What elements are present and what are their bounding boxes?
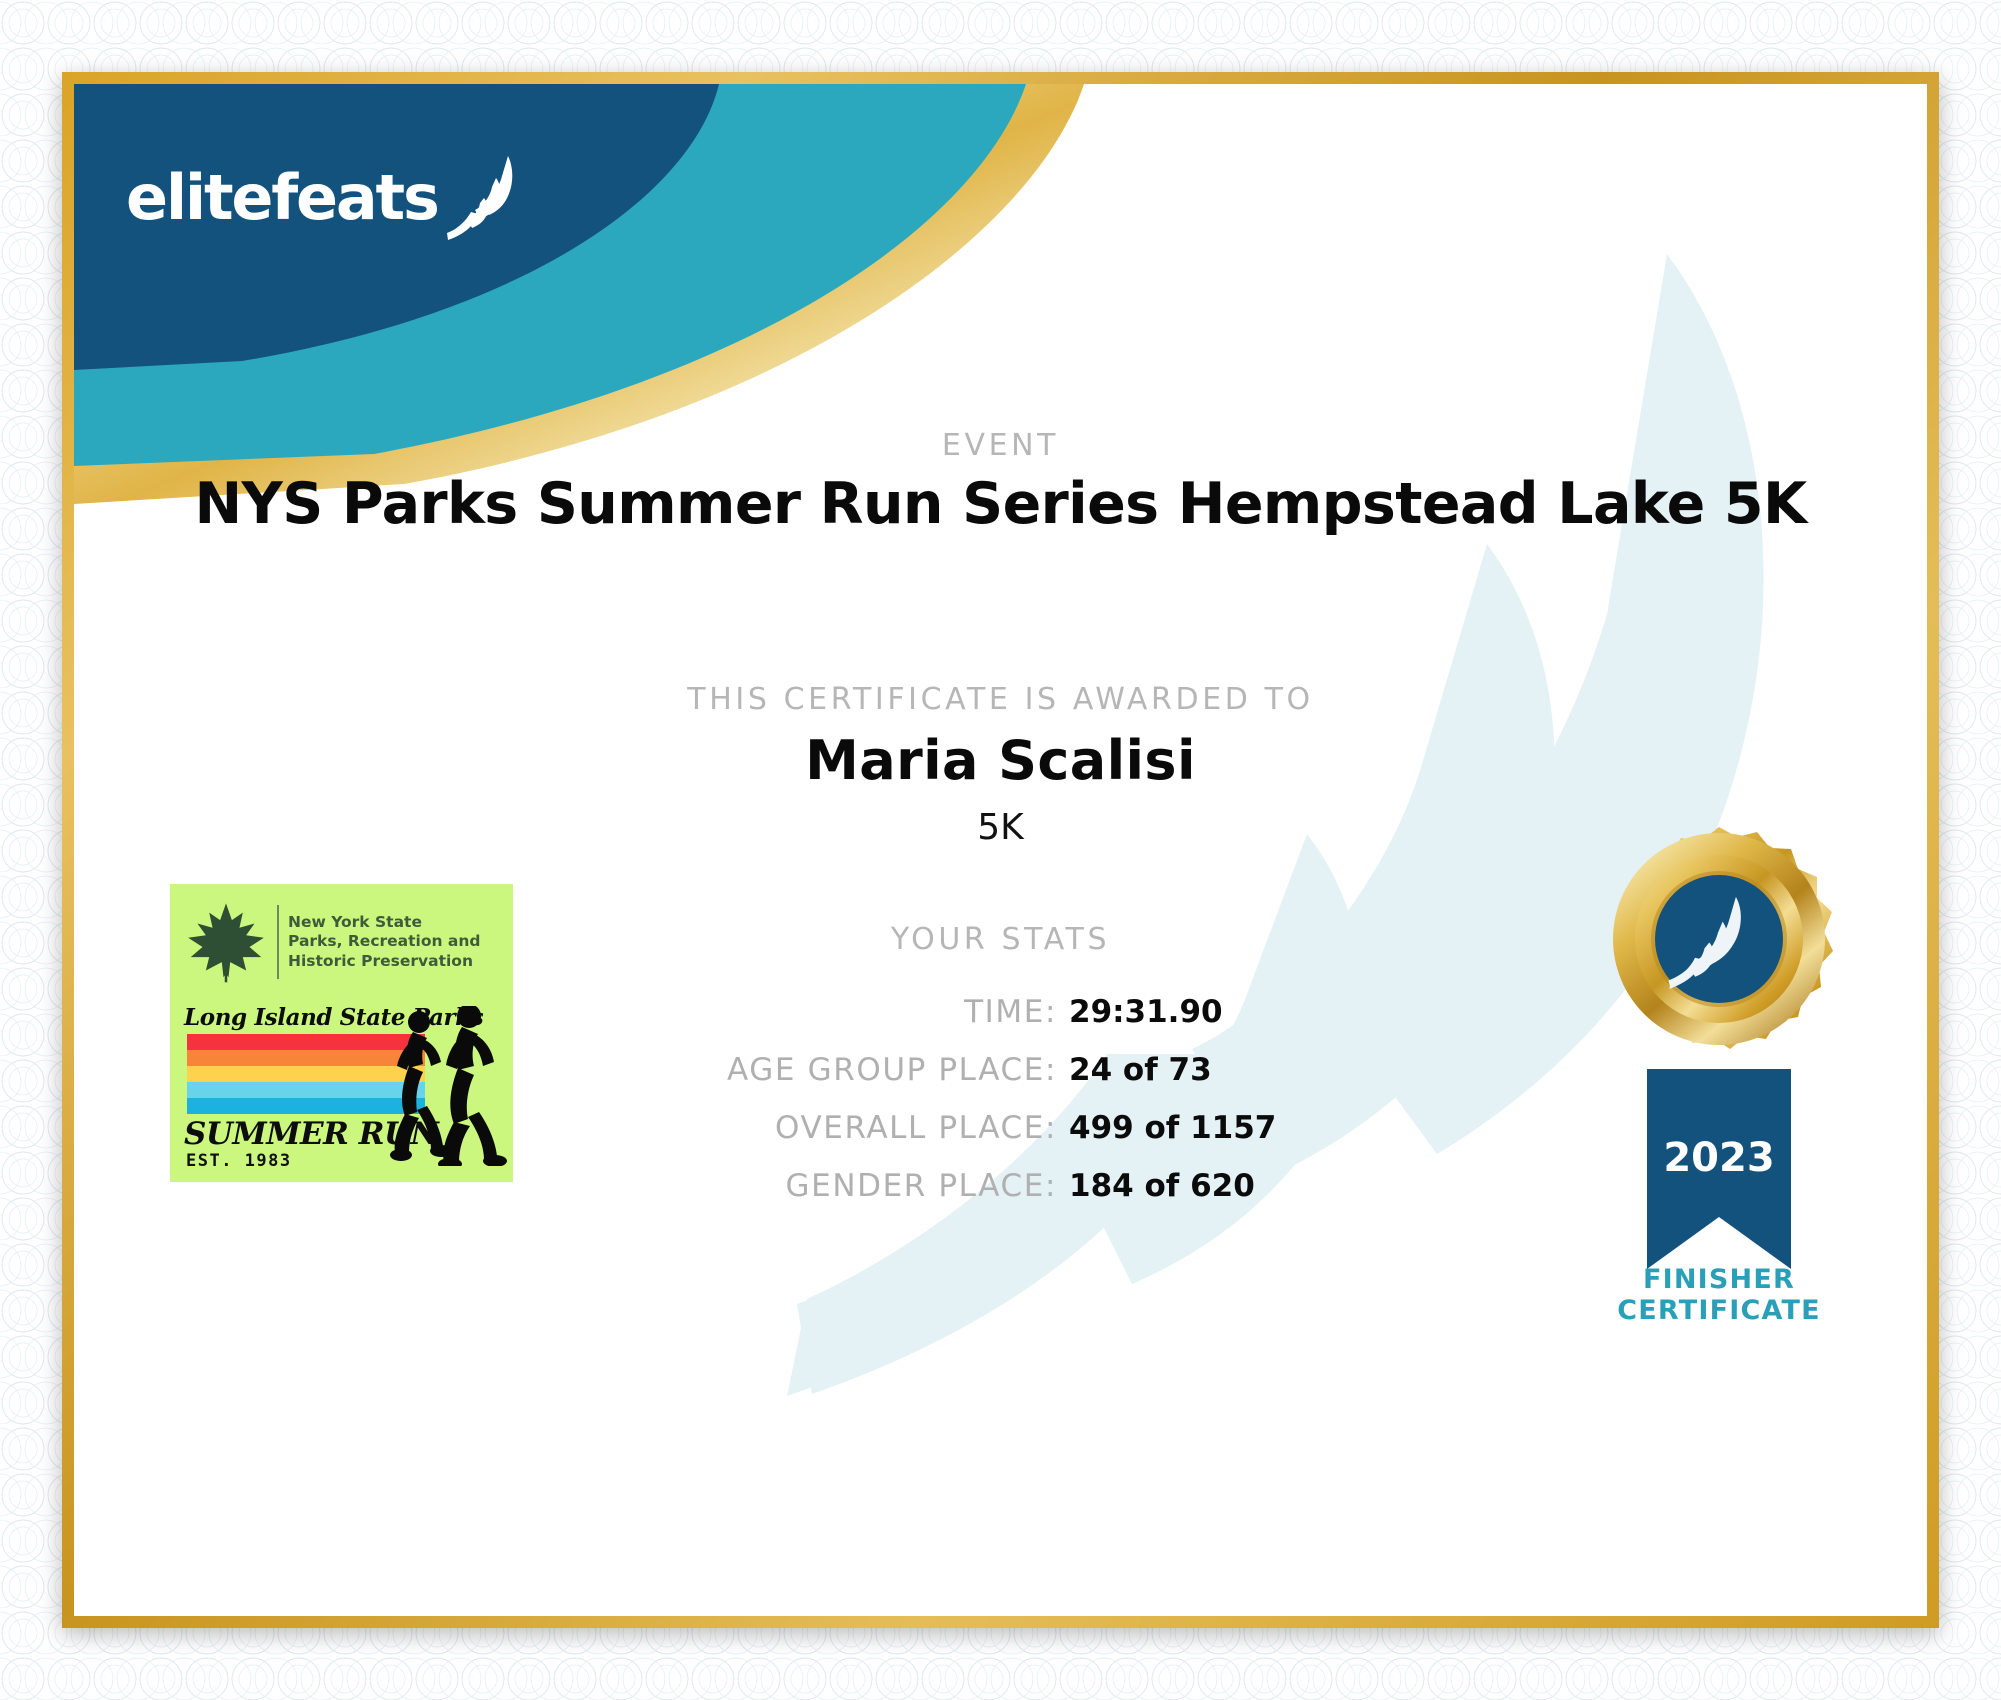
stat-label: OVERALL PLACE:: [775, 1110, 1057, 1146]
elitefeats-wordmark: elitefeats: [126, 167, 438, 229]
stat-value: 24 of 73: [1069, 1052, 1299, 1088]
stat-label: TIME:: [964, 994, 1057, 1030]
awarded-to-label: THIS CERTIFICATE IS AWARDED TO: [74, 682, 1927, 717]
maple-leaf-icon: [184, 900, 268, 984]
winged-foot-icon: [444, 152, 530, 244]
stat-label: AGE GROUP PLACE:: [727, 1052, 1057, 1088]
logo-divider: [277, 905, 279, 979]
stat-value: 499 of 1157: [1069, 1110, 1299, 1146]
finisher-line-2: CERTIFICATE: [1569, 1295, 1869, 1326]
runner-silhouettes-icon: [379, 1006, 509, 1166]
agency-line-2: Parks, Recreation and: [288, 932, 481, 951]
agency-line-3: Historic Preservation: [288, 952, 481, 971]
elitefeats-logo: elitefeats: [126, 152, 530, 244]
finisher-certificate-caption: FINISHER CERTIFICATE: [1569, 1264, 1869, 1326]
stat-label: GENDER PLACE:: [786, 1168, 1057, 1204]
certificate-body: elitefeats EVEN: [74, 84, 1927, 1616]
stat-value: 184 of 620: [1069, 1168, 1299, 1204]
certificate-content: EVENT NYS Parks Summer Run Series Hempst…: [74, 84, 1927, 1616]
event-label: EVENT: [74, 428, 1927, 463]
medal-year: 2023: [1663, 1135, 1774, 1181]
recipient-name: Maria Scalisi: [74, 729, 1927, 792]
nys-parks-summer-run-logo: New York State Parks, Recreation and His…: [170, 884, 513, 1182]
finisher-medal-badge: 2023: [1569, 819, 1869, 1309]
stat-value: 29:31.90: [1069, 994, 1299, 1030]
agency-name: New York State Parks, Recreation and His…: [288, 913, 481, 971]
gold-border-frame: elitefeats EVEN: [62, 72, 1939, 1628]
event-title: NYS Parks Summer Run Series Hempstead La…: [74, 471, 1927, 537]
agency-line-1: New York State: [288, 913, 481, 932]
finisher-line-1: FINISHER: [1569, 1264, 1869, 1295]
nys-parks-agency-lockup: New York State Parks, Recreation and His…: [170, 884, 513, 990]
